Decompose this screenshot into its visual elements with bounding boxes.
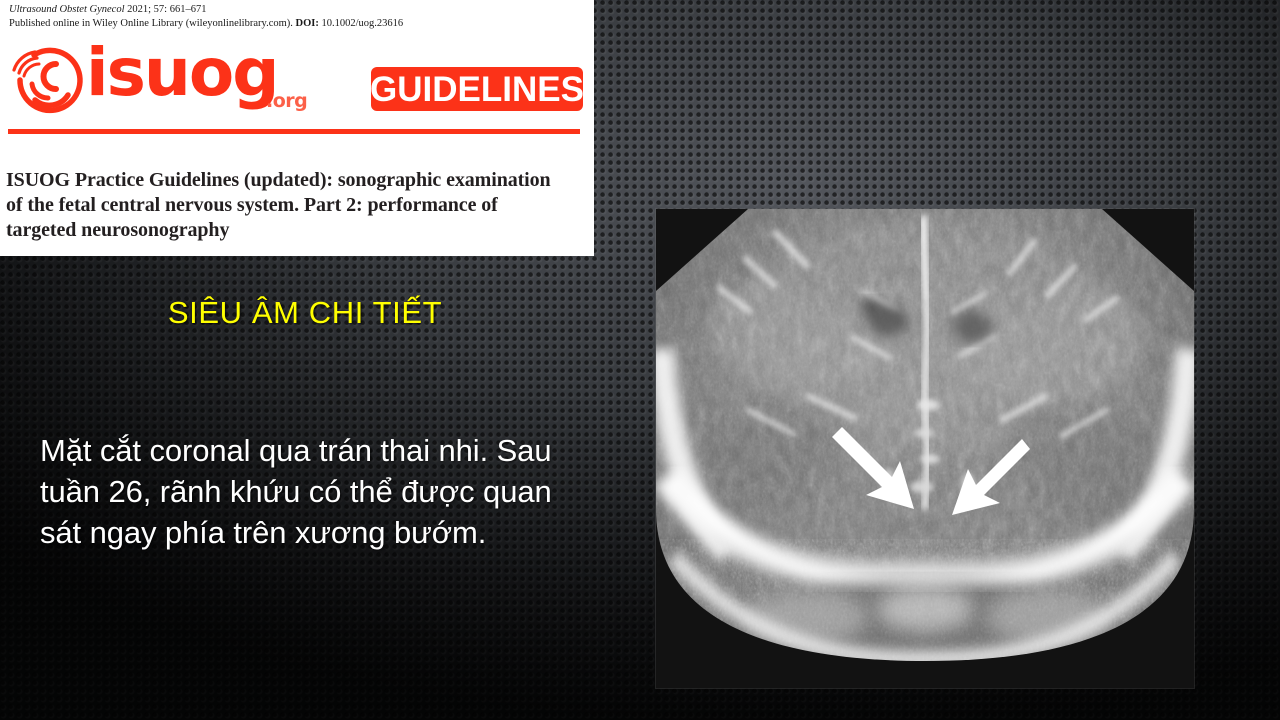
slide-body-text: Mặt cắt coronal qua trán thai nhi. Sau t… — [40, 430, 600, 554]
journal-header-card: Ultrasound Obstet Gynecol 2021; 57: 661–… — [0, 0, 594, 256]
isuog-wordmark: isuog — [86, 40, 277, 106]
isuog-fetus-logo-icon — [8, 46, 86, 118]
journal-issue: 2021; 57: 661–671 — [125, 4, 207, 15]
slide-heading: SIÊU ÂM CHI TIẾT — [20, 296, 590, 330]
paper-title: ISUOG Practice Guidelines (updated): son… — [6, 168, 566, 243]
guidelines-badge: GUIDELINES — [371, 67, 583, 111]
ultrasound-image-panel — [656, 209, 1194, 688]
ultrasound-image — [656, 209, 1194, 688]
published-online-text: Published online in Wiley Online Library… — [9, 18, 296, 29]
journal-citation-block: Ultrasound Obstet Gynecol 2021; 57: 661–… — [9, 3, 569, 31]
presentation-slide: Ultrasound Obstet Gynecol 2021; 57: 661–… — [0, 0, 1280, 720]
isuog-logo-row: isuog .org GUIDELINES — [8, 44, 583, 124]
journal-published-line: Published online in Wiley Online Library… — [9, 17, 569, 31]
doi-value: 10.1002/uog.23616 — [319, 18, 403, 29]
doi-label: DOI: — [296, 18, 319, 29]
journal-name: Ultrasound Obstet Gynecol — [9, 4, 125, 15]
journal-citation-line: Ultrasound Obstet Gynecol 2021; 57: 661–… — [9, 3, 569, 17]
isuog-tld-text: .org — [266, 90, 307, 112]
guidelines-badge-label: GUIDELINES — [370, 72, 584, 107]
header-divider-rule — [8, 129, 580, 134]
